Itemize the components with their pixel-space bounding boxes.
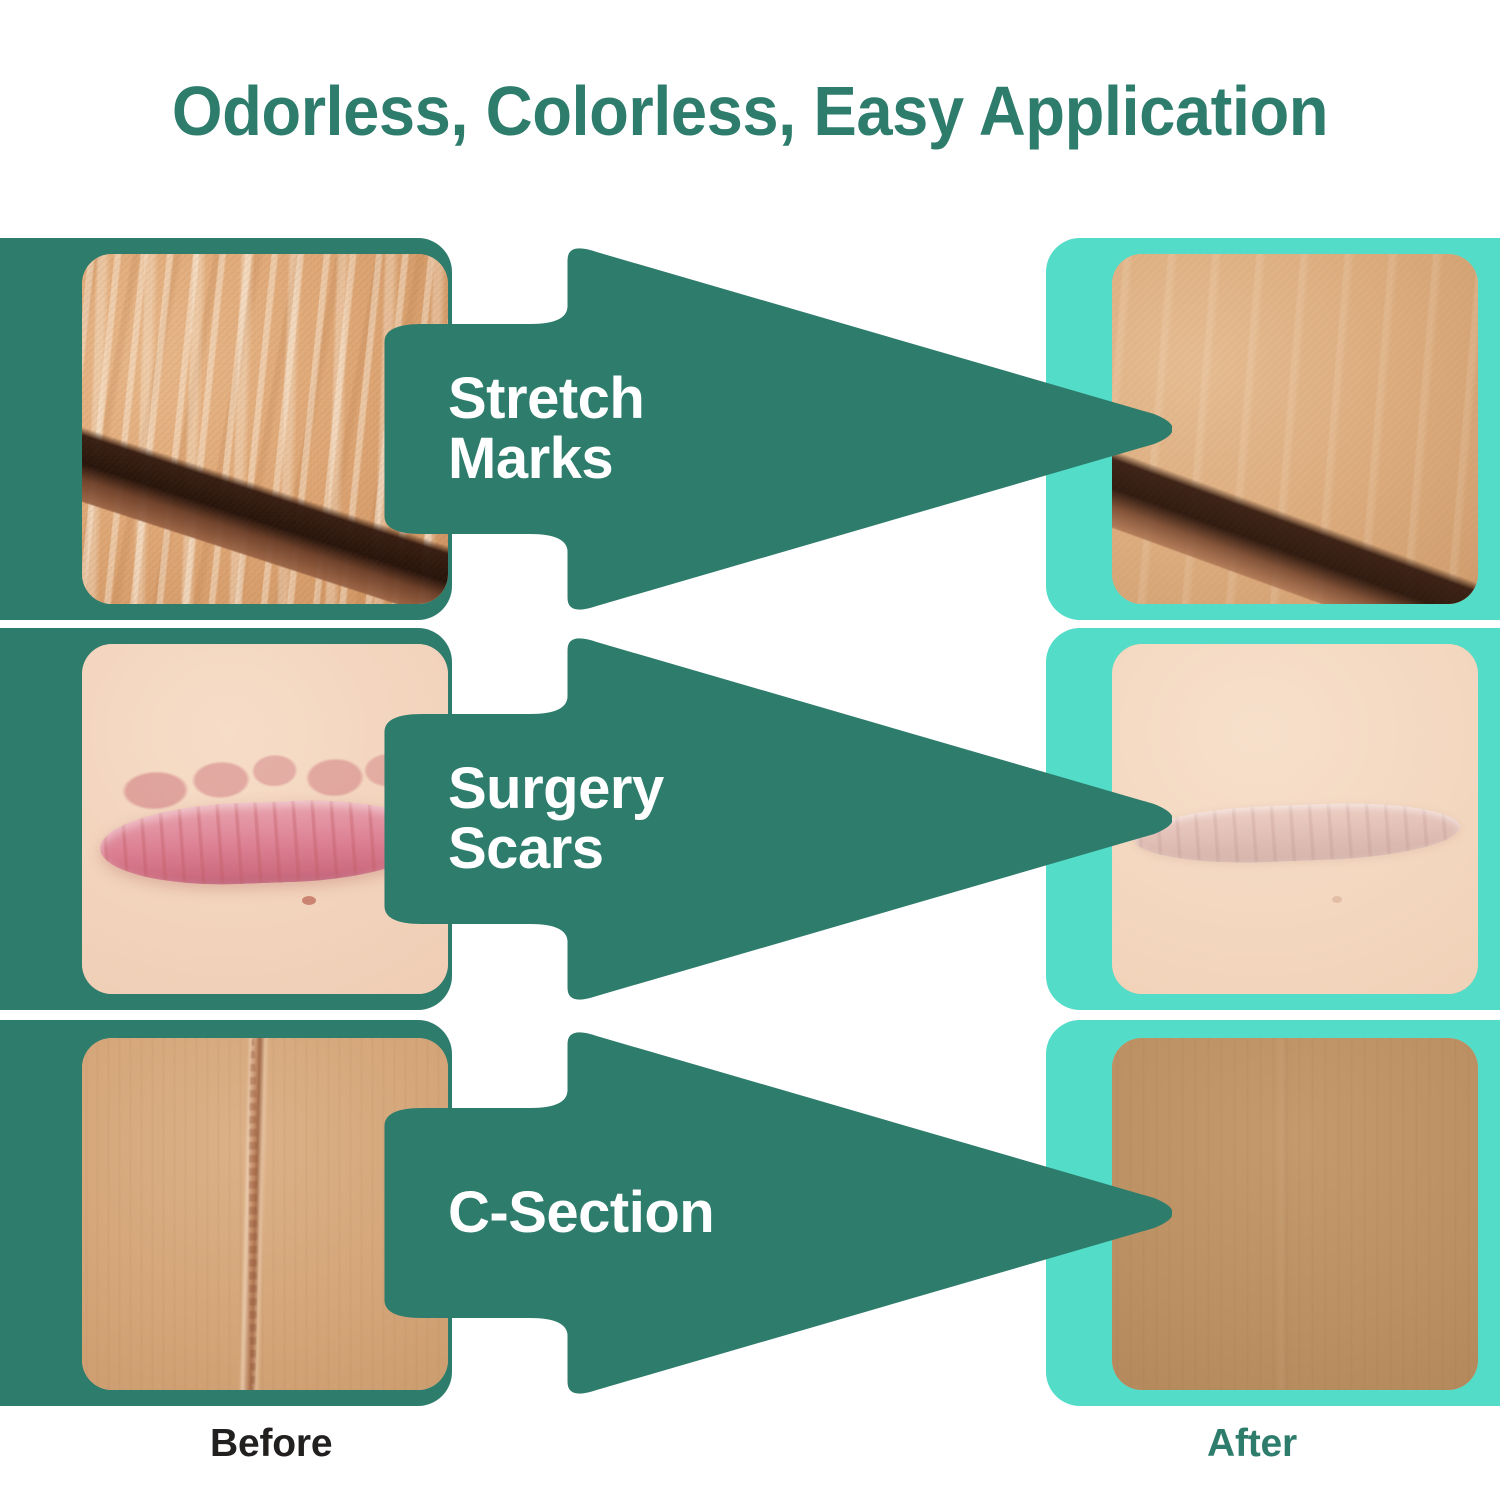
infographic-stage: Odorless, Colorless, Easy Application St… [0, 0, 1500, 1500]
page-title: Odorless, Colorless, Easy Application [53, 72, 1448, 150]
arrow-label: Surgery Scars [448, 759, 664, 879]
arrow-label: C-Section [448, 1183, 714, 1243]
arrow-stretch-marks: Stretch Marks [372, 238, 1172, 620]
c-section-scar-line-faded [1277, 1038, 1290, 1390]
skin-mole [302, 896, 316, 905]
before-label: Before [210, 1422, 332, 1466]
skin-mole [1332, 896, 1342, 903]
keloid-scar-faded [1133, 799, 1461, 867]
arrow-label: Stretch Marks [448, 369, 644, 489]
after-label: After [1207, 1422, 1297, 1466]
comparison-row-surgery-scars: Surgery Scars [0, 628, 1500, 1010]
arrow-c-section: C-Section [372, 1020, 1172, 1406]
comparison-row-c-section: C-Section [0, 1020, 1500, 1406]
comparison-row-stretch-marks: Stretch Marks [0, 238, 1500, 620]
arrow-surgery-scars: Surgery Scars [372, 628, 1172, 1010]
c-section-scar-core [249, 1038, 258, 1390]
